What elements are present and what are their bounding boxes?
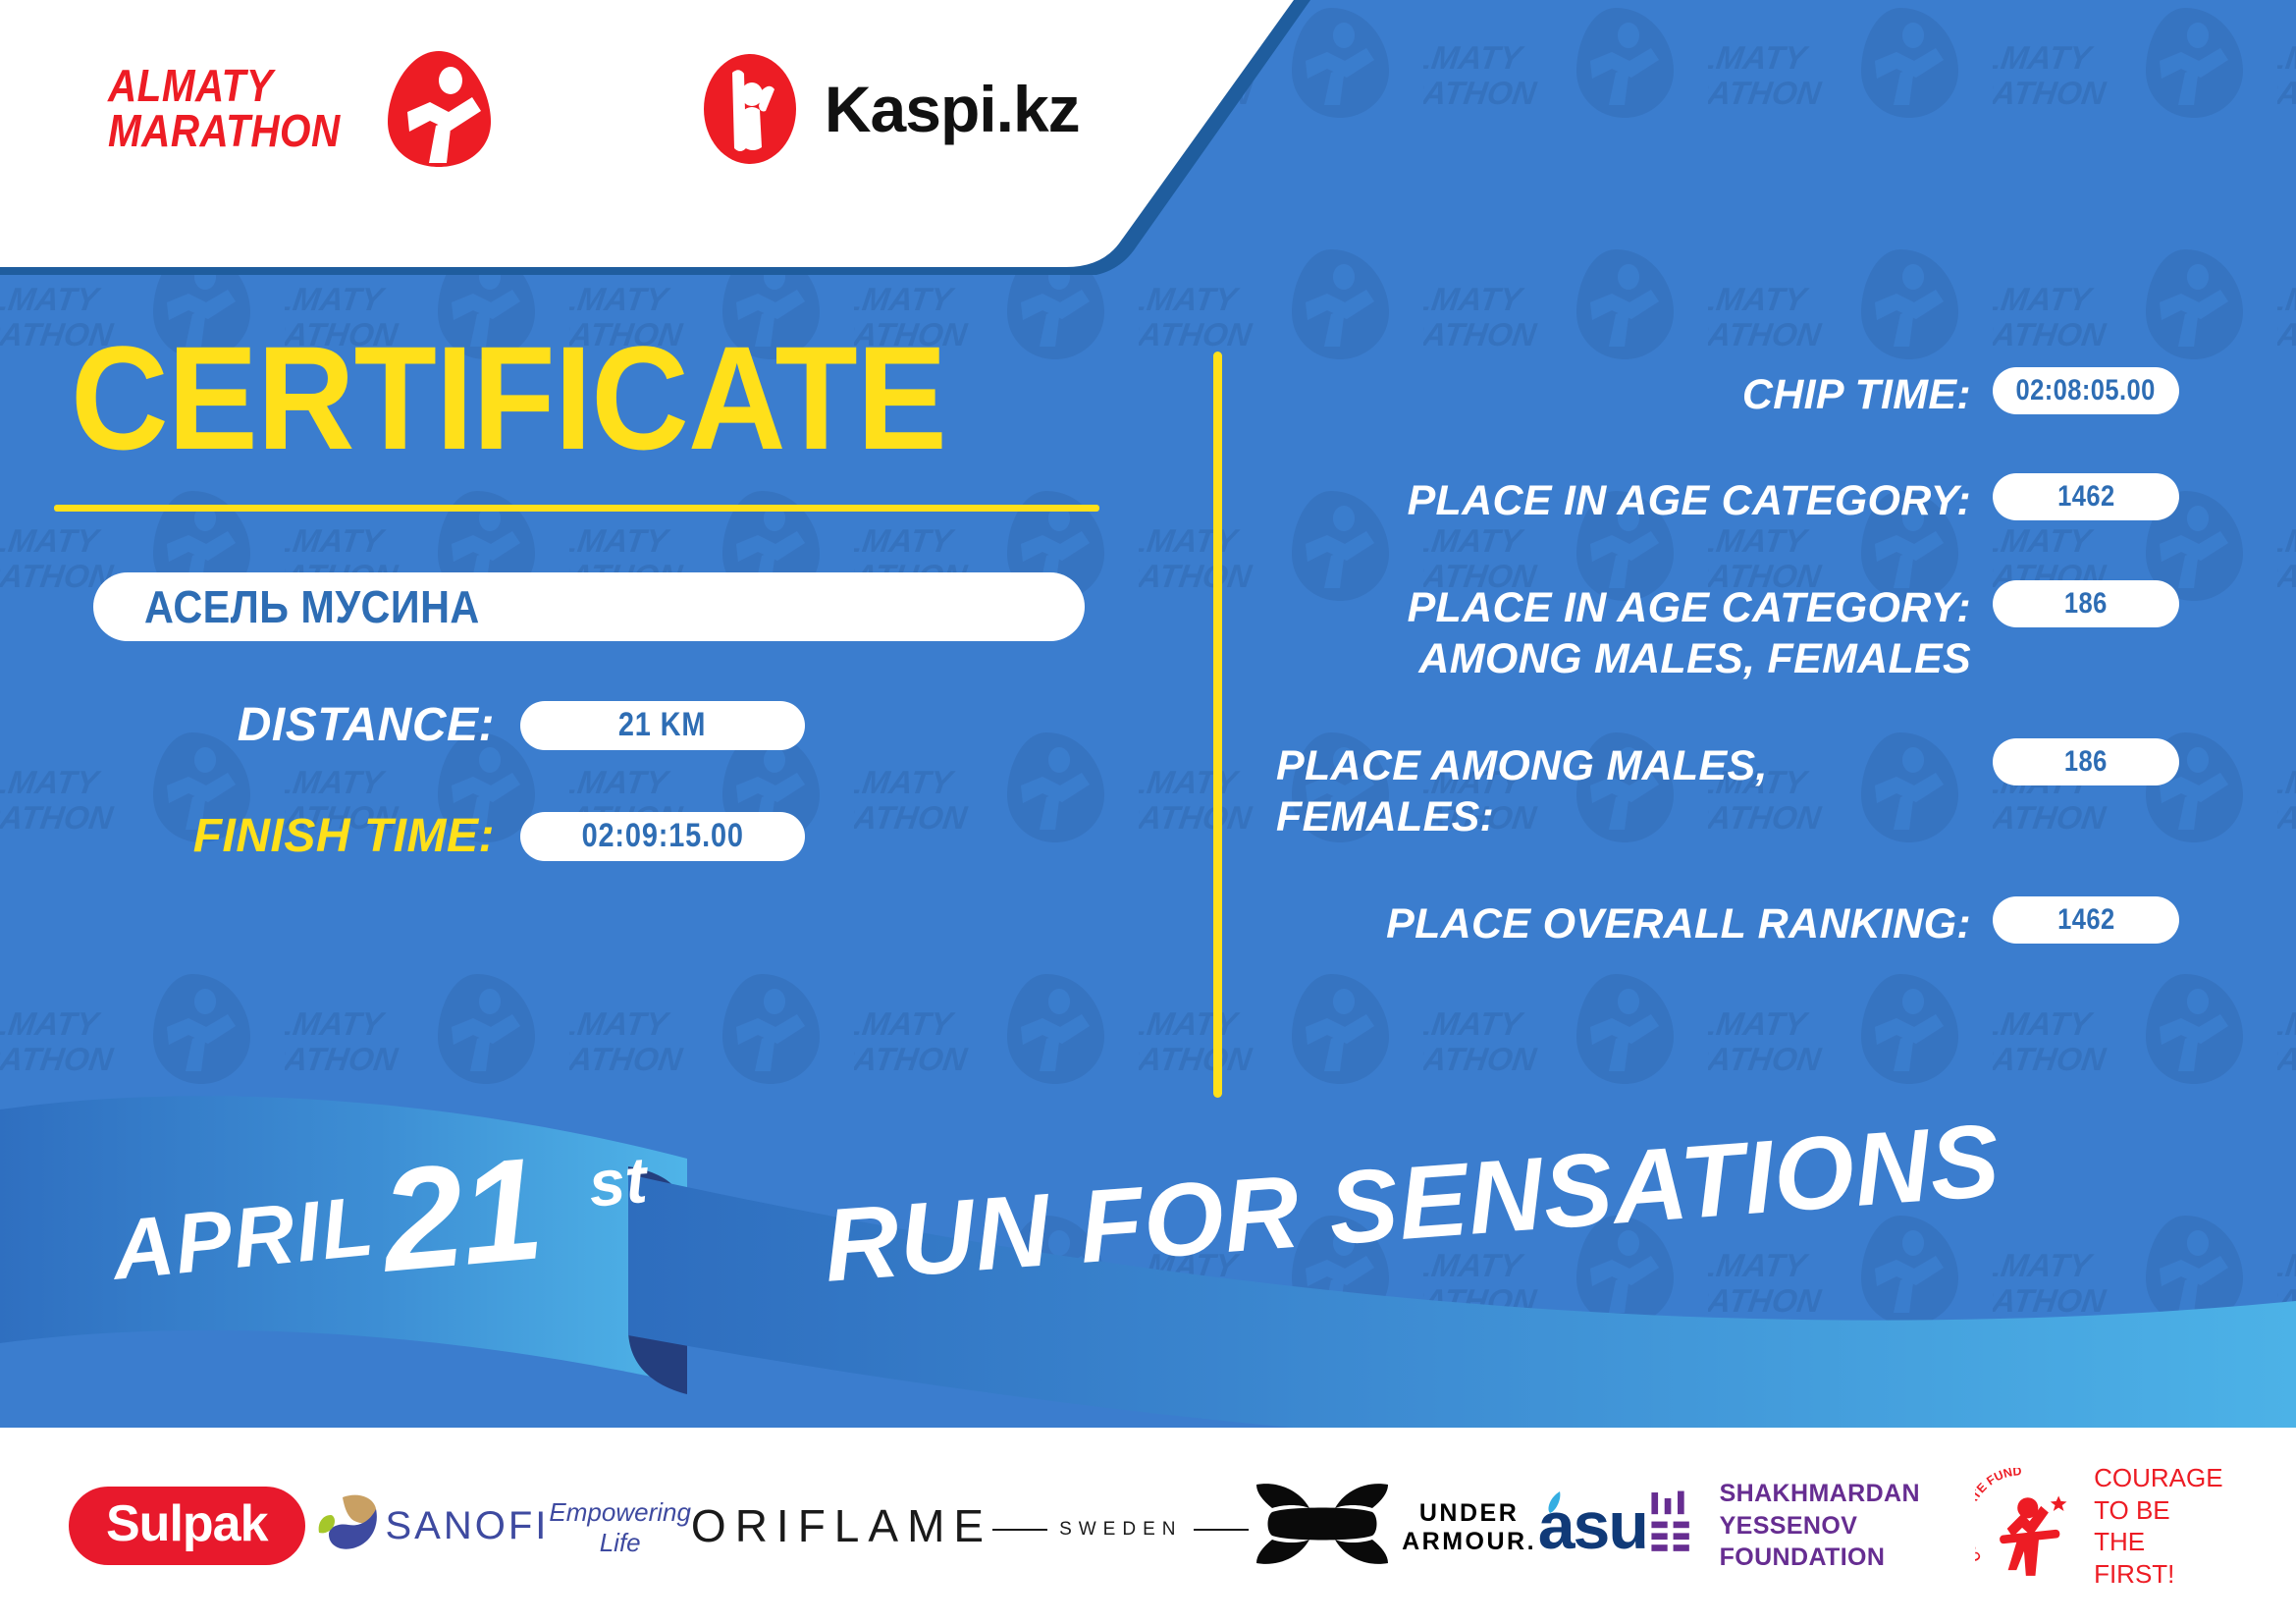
header-logos: ALMATY MARATHON [108,47,1080,170]
place-age-category-gender-value-pill: 186 [1993,580,2179,627]
place-among-gender-label: PLACE AMONG MALES,FEMALES: [1276,736,1993,843]
sponsor-strip: Sulpak SANOFI Empowering Life ORIFLAME S… [0,1428,2296,1624]
place-age-category-gender-value: 186 [2064,587,2108,621]
sanofi-wordmark: SANOFI [386,1504,550,1548]
place-age-category-label: PLACE IN AGE CATEGORY: [1276,471,1993,526]
sponsor-sulpak: Sulpak [69,1487,305,1565]
yessenov-mark-icon [1647,1477,1698,1575]
finish-time-label: FINISH TIME: [0,809,520,863]
under-armour-icon [1249,1479,1396,1574]
sponsor-under-armour: UNDER ARMOUR. [1249,1479,1541,1574]
courage-fund-icon: CORPORATE FUND [1975,1468,2081,1584]
almaty-marathon-line1: ALMATY [108,64,341,108]
chip-time-value: 02:08:05.00 [2016,374,2156,407]
place-among-gender-value-pill: 186 [1993,738,2179,785]
sanofi-tagline: Empowering Life [549,1497,691,1558]
sponsor-courage-fund: CORPORATE FUND COURAGE TO BE THE FIRST! [1975,1462,2227,1590]
certificate-canvas: ALMATY MARATHON ALMATY MARATHON [0,0,2296,1624]
ribbon-day: 21 [376,1125,548,1305]
finish-time-value: 02:09:15.00 [581,817,743,855]
runner-drop-icon [378,47,501,170]
sponsor-oriflame: ORIFLAME SWEDEN [691,1499,1250,1552]
place-among-gender-value: 186 [2064,745,2108,779]
sulpak-logo: Sulpak [69,1487,305,1565]
sanofi-mark-icon [305,1493,386,1559]
oriflame-country: SWEDEN [1059,1519,1182,1541]
chip-time-label: CHIP TIME: [1276,365,1993,420]
oriflame-wordmark: ORIFLAME [691,1499,992,1552]
place-age-category-gender-label: PLACE IN AGE CATEGORY:AMONG MALES, FEMAL… [1276,578,1993,685]
kaspi-logo: Kaspi.kz [697,51,1080,167]
finish-time-value-pill: 02:09:15.00 [520,812,805,861]
asu-wordmark: asu [1538,1488,1647,1564]
almaty-marathon-line2: MARATHON [108,109,341,153]
title-divider [54,505,1099,512]
yessenov-line1: SHAKHMARDAN YESSENOV [1720,1478,1975,1542]
place-age-category-row: PLACE IN AGE CATEGORY: 1462 [1276,471,2179,526]
place-age-category-value-pill: 1462 [1993,473,2179,520]
courage-line3: THE FIRST! [2094,1526,2227,1590]
courage-fund-wordmark: COURAGE TO BE THE FIRST! [2094,1462,2227,1590]
participant-name-value: АСЕЛЬ МУСИНА [144,580,480,633]
distance-label: DISTANCE: [0,698,520,752]
almaty-marathon-wordmark: ALMATY MARATHON [108,64,341,152]
distance-row: DISTANCE: 21 KM [0,698,1158,752]
sponsor-yessenov: SHAKHMARDAN YESSENOV FOUNDATION [1647,1477,1975,1575]
almaty-marathon-logo: ALMATY MARATHON [108,47,501,170]
kaspi-wordmark: Kaspi.kz [825,72,1080,146]
left-column: CERTIFICATE АСЕЛЬ МУСИНА DISTANCE: 21 KM… [0,324,1158,863]
kaspi-figure-icon [697,51,803,167]
distance-value-pill: 21 KM [520,701,805,750]
sponsor-asu: asu [1542,1488,1647,1564]
place-age-category-value: 1462 [2057,480,2114,514]
courage-line1: COURAGE [2094,1462,2227,1494]
chip-time-row: CHIP TIME: 02:08:05.00 [1276,365,2179,420]
ribbon-day-suffix: st [586,1142,650,1221]
oriflame-rule-left [992,1529,1047,1531]
place-age-category-gender-row: PLACE IN AGE CATEGORY:AMONG MALES, FEMAL… [1276,578,2179,685]
column-divider [1213,352,1222,1098]
participant-name-field: АСЕЛЬ МУСИНА [93,572,1085,641]
distance-value: 21 KM [618,706,706,744]
finish-time-row: FINISH TIME: 02:09:15.00 [0,809,1158,863]
under-armour-wordmark: UNDER ARMOUR. [1396,1499,1541,1556]
right-column: CHIP TIME: 02:08:05.00 PLACE IN AGE CATE… [1276,365,2179,1001]
oriflame-rule-right [1194,1529,1249,1531]
place-overall-row: PLACE OVERALL RANKING: 1462 [1276,894,2179,949]
yessenov-line2: FOUNDATION [1720,1542,1975,1574]
place-overall-value-pill: 1462 [1993,896,2179,944]
courage-line2: TO BE [2094,1494,2227,1527]
place-overall-value: 1462 [2057,903,2114,937]
place-among-gender-row: PLACE AMONG MALES,FEMALES: 186 [1276,736,2179,843]
place-overall-label: PLACE OVERALL RANKING: [1276,894,1993,949]
chip-time-value-pill: 02:08:05.00 [1993,367,2179,414]
yessenov-wordmark: SHAKHMARDAN YESSENOV FOUNDATION [1720,1478,1975,1574]
page-title: CERTIFICATE [71,324,1071,471]
sponsor-sanofi: SANOFI Empowering Life [305,1493,691,1559]
oriflame-subline: SWEDEN [992,1519,1249,1541]
